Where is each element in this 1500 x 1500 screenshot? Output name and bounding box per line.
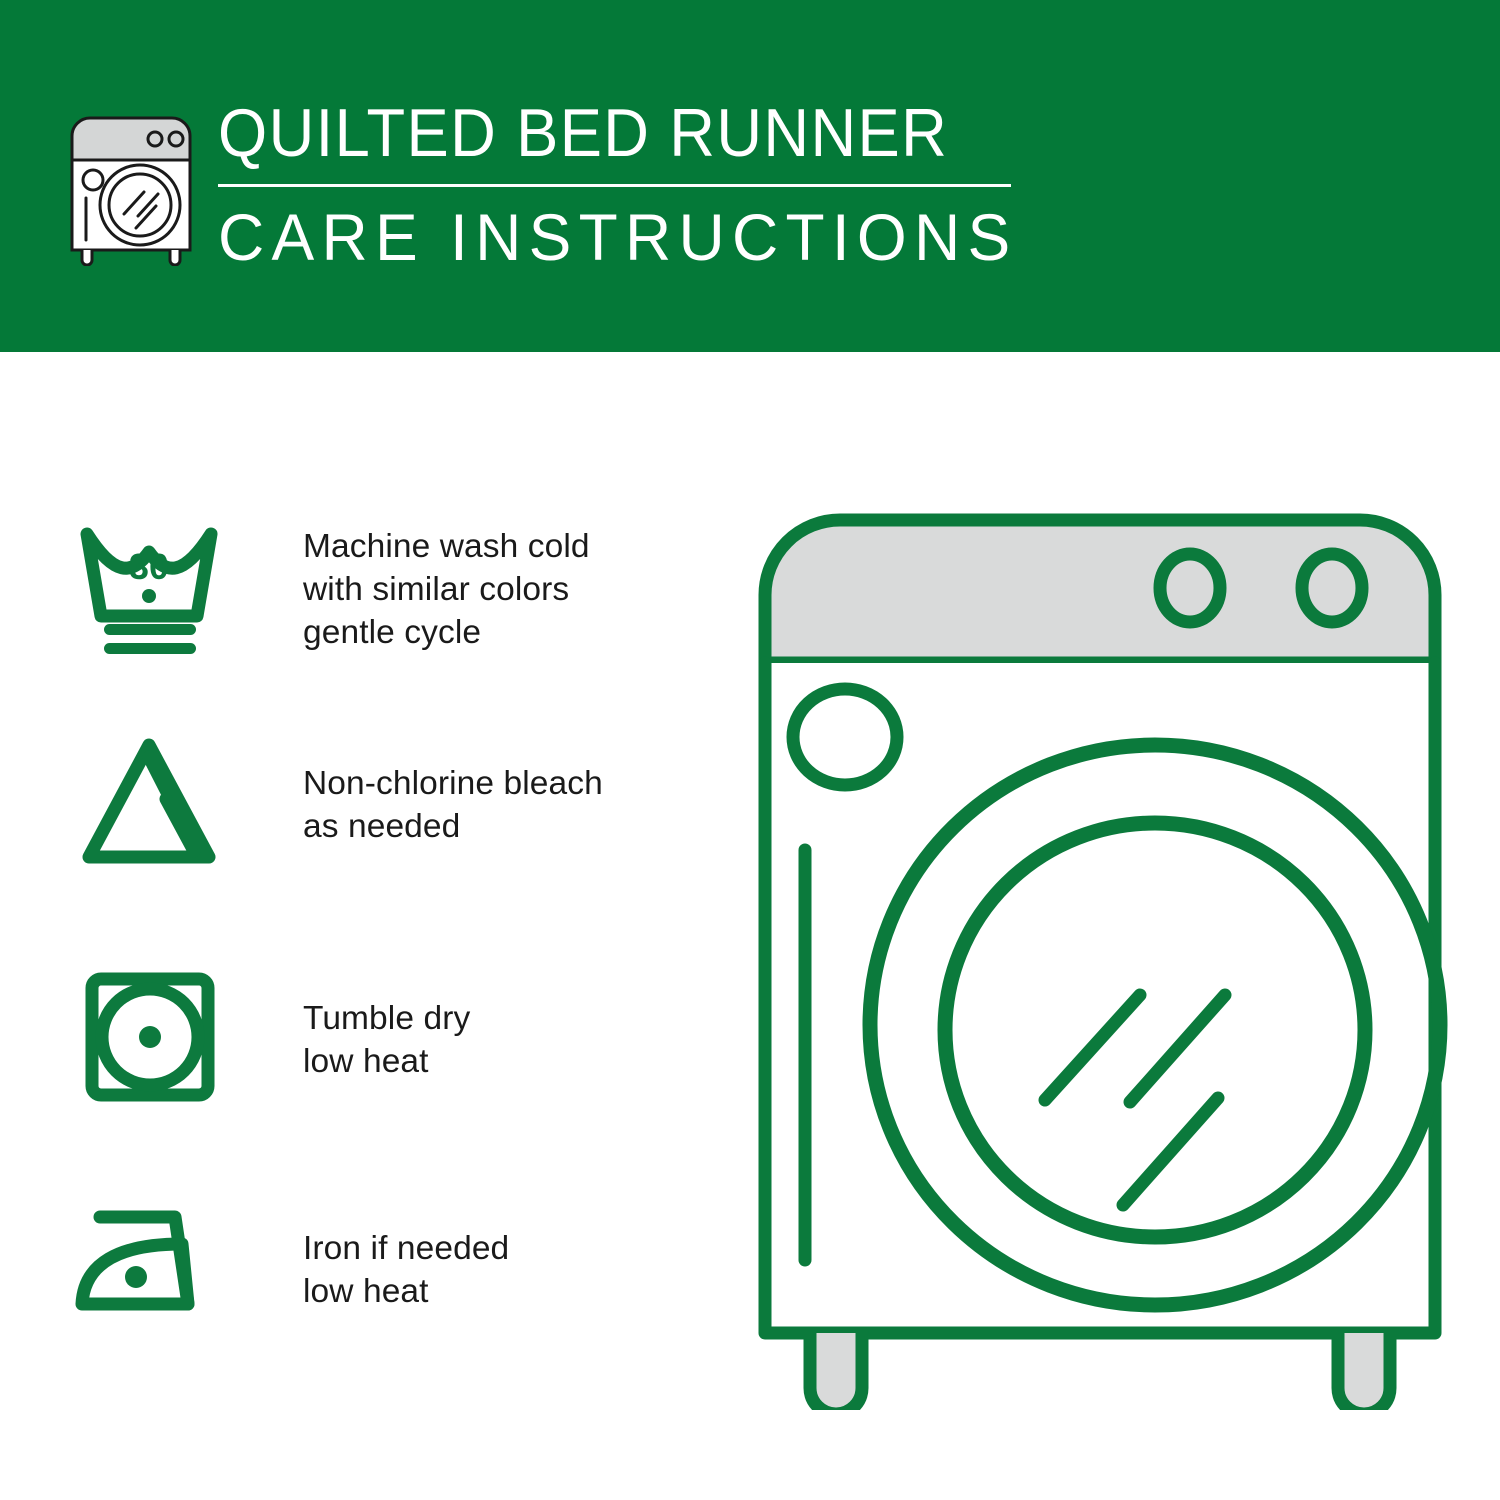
care-item-label: Tumble dry low heat (303, 997, 470, 1083)
care-instruction-list: 30 Machine wash cold with similar colors… (0, 352, 700, 1500)
care-item-label: Non-chlorine bleach as needed (303, 762, 603, 848)
title-divider (218, 184, 1011, 187)
non-chlorine-bleach-triangle-icon (70, 727, 245, 882)
leg-left (810, 1333, 862, 1410)
care-item-machine-wash: 30 Machine wash cold with similar colors… (70, 512, 590, 667)
care-item-tumble-dry: Tumble dry low heat (70, 962, 470, 1117)
care-item-iron: Iron if needed low heat (70, 1192, 509, 1347)
tumble-dry-low-heat-icon (70, 962, 245, 1117)
page-subtitle: CARE INSTRUCTIONS (218, 201, 994, 273)
care-item-bleach: Non-chlorine bleach as needed (70, 727, 603, 882)
wash-tub-30-gentle-icon: 30 (70, 512, 245, 667)
leg-right (1338, 1333, 1390, 1410)
front-load-washing-machine-illustration (735, 490, 1465, 1410)
header-title-block: QUILTED BED RUNNER CARE INSTRUCTIONS (218, 96, 1018, 273)
care-item-label: Machine wash cold with similar colors ge… (303, 525, 590, 654)
washing-machine-icon (62, 106, 200, 266)
control-panel (765, 520, 1435, 663)
care-item-label: Iron if needed low heat (303, 1227, 509, 1313)
iron-low-heat-icon (70, 1192, 245, 1347)
header-banner: QUILTED BED RUNNER CARE INSTRUCTIONS (0, 0, 1500, 352)
wash-temperature-value: 30 (129, 546, 169, 587)
page-title: QUILTED BED RUNNER (218, 96, 962, 170)
